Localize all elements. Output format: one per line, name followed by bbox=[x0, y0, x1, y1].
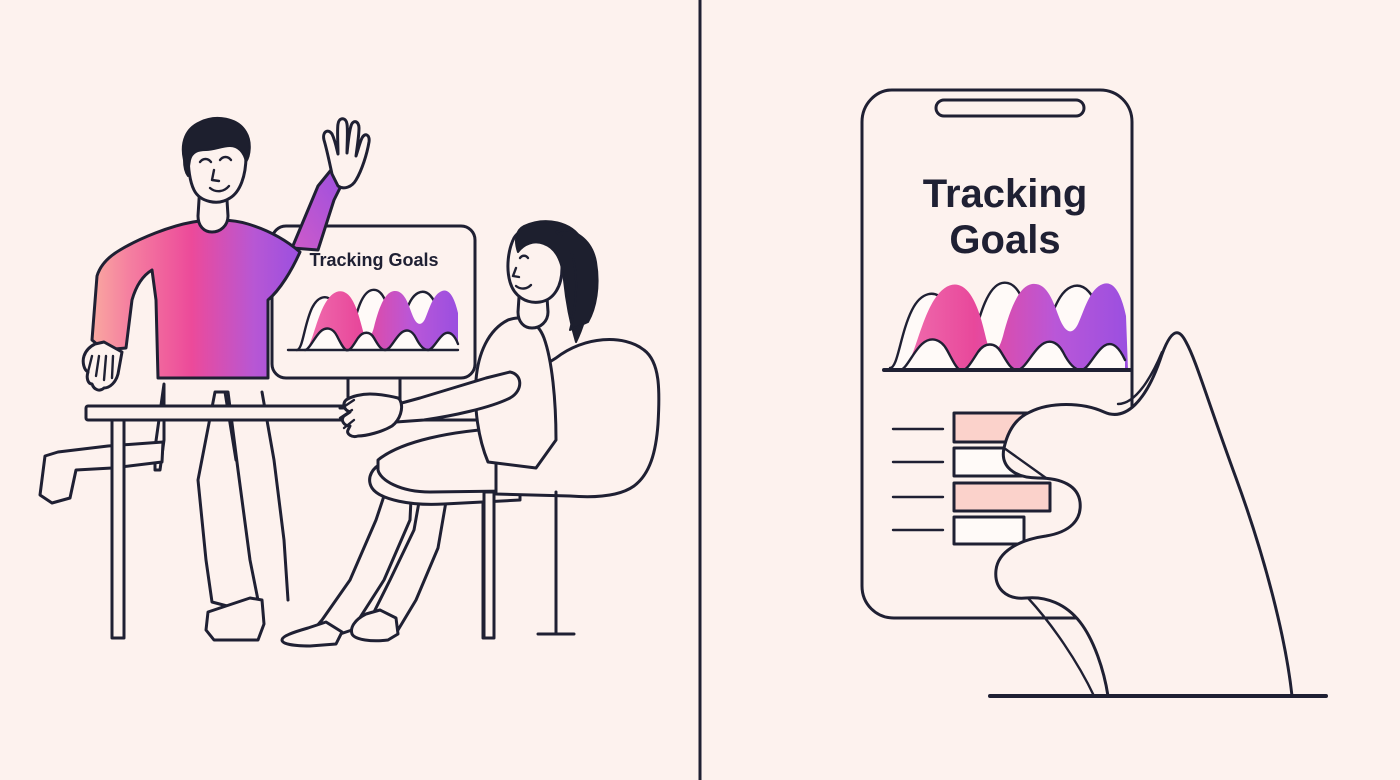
illustration-canvas: Tracking Goals bbox=[0, 0, 1400, 780]
left-scene: Tracking Goals bbox=[40, 118, 659, 646]
monitor[interactable]: Tracking Goals bbox=[272, 226, 475, 408]
phone-title-line2: Goals bbox=[949, 218, 1060, 262]
monitor-chart bbox=[297, 290, 459, 352]
standing-man-legs bbox=[40, 384, 288, 640]
earpiece-slot bbox=[936, 100, 1084, 116]
phone-title-line1: Tracking bbox=[923, 172, 1088, 216]
phone-chart bbox=[890, 283, 1128, 374]
right-scene: Tracking Goals bbox=[862, 90, 1326, 696]
monitor-screen-title: Tracking Goals bbox=[309, 250, 438, 270]
illustration-svg: Tracking Goals bbox=[0, 0, 1400, 780]
